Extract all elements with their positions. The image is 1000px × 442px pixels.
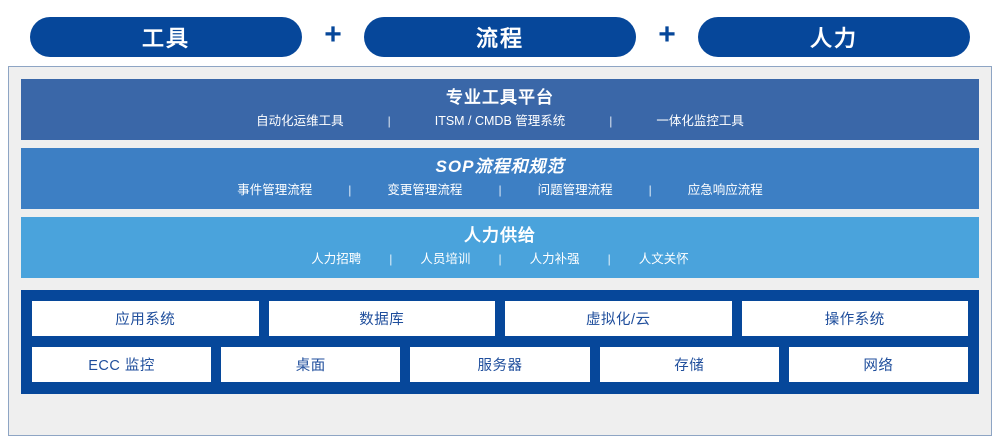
plus-icon-1: +	[302, 20, 364, 54]
band-sop-items: 事件管理流程 | 变更管理流程 | 问题管理流程 | 应急响应流程	[31, 180, 969, 200]
band-manpower-item-2[interactable]: 人力补强	[524, 249, 586, 269]
separator-icon: |	[320, 180, 379, 200]
capability-stack-diagram: 工具 + 流程 + 人力 专业工具平台 自动化运维工具 | ITSM / CMD…	[0, 0, 1000, 442]
layer-container: 专业工具平台 自动化运维工具 | ITSM / CMDB 管理系统 | 一体化监…	[8, 66, 992, 436]
infra-cell-operating-system[interactable]: 操作系统	[742, 301, 969, 336]
pillar-tools[interactable]: 工具	[30, 17, 302, 57]
infrastructure-row-1: 应用系统 数据库 虚拟化/云 操作系统	[32, 301, 968, 336]
pillar-row: 工具 + 流程 + 人力	[0, 0, 1000, 62]
separator-icon: |	[470, 180, 529, 200]
band-manpower-item-1[interactable]: 人员培训	[414, 249, 476, 269]
separator-icon: |	[586, 249, 633, 269]
band-sop-title: SOP流程和规范	[31, 154, 969, 180]
infra-cell-virtualization-cloud[interactable]: 虚拟化/云	[505, 301, 732, 336]
infra-cell-database[interactable]: 数据库	[269, 301, 496, 336]
infrastructure-row-2: ECC 监控 桌面 服务器 存储 网络	[32, 347, 968, 382]
band-tools-item-2[interactable]: 一体化监控工具	[646, 111, 754, 131]
infra-cell-storage[interactable]: 存储	[600, 347, 779, 382]
band-sop-item-3[interactable]: 应急响应流程	[680, 180, 771, 200]
plus-icon-2: +	[636, 20, 698, 54]
pillar-tools-label: 工具	[142, 21, 190, 53]
infra-cell-ecc-monitoring[interactable]: ECC 监控	[32, 347, 211, 382]
pillar-manpower-label: 人力	[810, 21, 858, 53]
band-tools-items: 自动化运维工具 | ITSM / CMDB 管理系统 | 一体化监控工具	[31, 111, 969, 131]
pillar-manpower[interactable]: 人力	[698, 17, 970, 57]
band-tools-item-1[interactable]: ITSM / CMDB 管理系统	[425, 111, 576, 131]
band-tools: 专业工具平台 自动化运维工具 | ITSM / CMDB 管理系统 | 一体化监…	[21, 79, 979, 140]
band-manpower-items: 人力招聘 | 人员培训 | 人力补强 | 人文关怀	[31, 249, 969, 269]
separator-icon: |	[476, 249, 523, 269]
separator-icon: |	[367, 249, 414, 269]
band-tools-item-0[interactable]: 自动化运维工具	[246, 111, 354, 131]
separator-icon: |	[621, 180, 680, 200]
band-sop-item-0[interactable]: 事件管理流程	[229, 180, 320, 200]
separator-icon: |	[575, 111, 646, 131]
band-manpower-title: 人力供给	[31, 223, 969, 249]
band-manpower-item-0[interactable]: 人力招聘	[305, 249, 367, 269]
infra-cell-application[interactable]: 应用系统	[32, 301, 259, 336]
infra-cell-server[interactable]: 服务器	[410, 347, 589, 382]
infra-cell-network[interactable]: 网络	[789, 347, 968, 382]
pillar-process-label: 流程	[476, 21, 524, 53]
infra-cell-desktop[interactable]: 桌面	[221, 347, 400, 382]
band-sop: SOP流程和规范 事件管理流程 | 变更管理流程 | 问题管理流程 | 应急响应…	[21, 148, 979, 209]
separator-icon: |	[354, 111, 425, 131]
band-manpower: 人力供给 人力招聘 | 人员培训 | 人力补强 | 人文关怀	[21, 217, 979, 278]
band-manpower-item-3[interactable]: 人文关怀	[633, 249, 695, 269]
band-tools-title: 专业工具平台	[31, 85, 969, 111]
pillar-process[interactable]: 流程	[364, 17, 636, 57]
band-sop-item-2[interactable]: 问题管理流程	[530, 180, 621, 200]
infrastructure-box: 应用系统 数据库 虚拟化/云 操作系统 ECC 监控 桌面 服务器 存储 网络	[21, 290, 979, 394]
band-sop-item-1[interactable]: 变更管理流程	[379, 180, 470, 200]
